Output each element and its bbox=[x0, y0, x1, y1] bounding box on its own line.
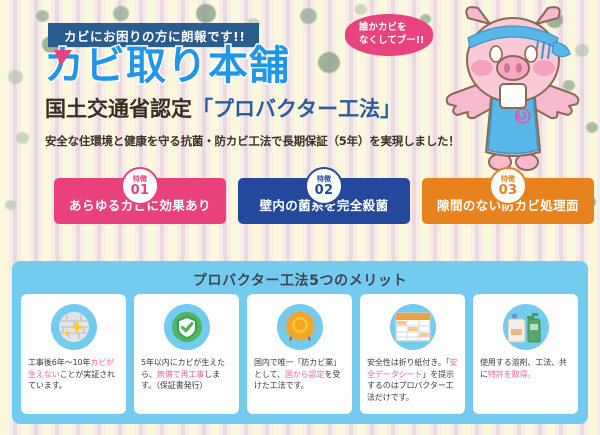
merit-card[interactable]: 安全性は折り紙付き。「安全データシート」を提示するのはプロバクター工法だけです。 bbox=[360, 294, 465, 414]
feature-badge-number: 02 bbox=[315, 184, 334, 197]
feature-badge-number: 03 bbox=[499, 184, 518, 197]
merits-panel: プロバクター工法5つのメリット 工事後6年～10年カビが生えない bbox=[12, 261, 588, 424]
feature-boxes: 特徴 01 あらゆるカビに効果あり 特徴 02 壁内の菌糸を完全殺菌 特徴 03… bbox=[0, 168, 600, 230]
feature-box-02[interactable]: 特徴 02 壁内の菌糸を完全殺菌 bbox=[238, 178, 410, 224]
merit-card[interactable]: 工事後6年～10年カビが生えないことが実証されています。 bbox=[21, 294, 126, 414]
merit-text-highlight: 国から認定 bbox=[285, 370, 325, 379]
feature-badge-word: 特徴 bbox=[133, 176, 147, 183]
brick-wall-sparkle-icon bbox=[51, 304, 97, 350]
merit-card[interactable]: 使用する溶剤、工法、共に特許を取得。 bbox=[473, 294, 578, 414]
speech-bubble: 誰かカビを なくしてブー!! bbox=[345, 14, 433, 56]
merit-card-text: 使用する溶剤、工法、共に特許を取得。 bbox=[480, 357, 571, 380]
feature-badge-word: 特徴 bbox=[317, 176, 331, 183]
feature-badge-02: 特徴 02 bbox=[305, 167, 343, 205]
speech-bubble-tail bbox=[54, 50, 72, 66]
feature-badge-word: 特徴 bbox=[501, 176, 515, 183]
sub-title-certification: 国土交通省認定 bbox=[45, 97, 192, 121]
award-medal-icon bbox=[277, 304, 323, 350]
merit-card-list: 工事後6年～10年カビが生えないことが実証されています。 5年以内にカビが生えた… bbox=[21, 294, 578, 414]
page-title: カビ取り本舗 bbox=[44, 46, 290, 86]
spray-bottle-icon bbox=[503, 304, 549, 350]
merit-text-part: 安全性は折り紙付き。「 bbox=[367, 358, 450, 367]
feature-badge-number: 01 bbox=[131, 184, 150, 197]
data-sheet-icon bbox=[390, 304, 436, 350]
merits-heading: プロバクター工法5つのメリット bbox=[12, 261, 588, 290]
merit-card-text: 安全性は折り紙付き。「安全データシート」を提示するのはプロバクター工法だけです。 bbox=[367, 357, 458, 403]
speech-bubble-line-2: なくしてブー!! bbox=[345, 35, 433, 48]
sub-title-method-name: 「プロバクター工法」 bbox=[192, 97, 401, 121]
feature-box-03[interactable]: 特徴 03 隙間のない防カビ処理面 bbox=[422, 178, 594, 224]
merit-card-text: 工事後6年～10年カビが生えないことが実証されています。 bbox=[28, 357, 119, 392]
merit-card[interactable]: 5年以内にカビが生えたら、無償で再工事します。（保証書発行） bbox=[134, 294, 239, 414]
lead-text: 安全な住環境と健康を守る抗菌・防カビ工法で長期保証（5年）を実現しました！ bbox=[45, 133, 460, 149]
landing-page: カビにお困りの方に朗報です!! カビ取り本舗 国土交通省認定「プロバクター工法」… bbox=[0, 0, 600, 435]
merit-text-highlight: 無償で再工事 bbox=[157, 370, 204, 379]
merit-card[interactable]: 国内で唯一「防カビ業」として、国から認定を受けた工法です。 bbox=[247, 294, 352, 414]
feature-badge-03: 特徴 03 bbox=[489, 167, 527, 205]
merit-card-text: 国内で唯一「防カビ業」として、国から認定を受けた工法です。 bbox=[254, 357, 345, 392]
speech-bubble-line-1: 誰かカビを bbox=[345, 22, 433, 35]
merit-text-highlight: 特許を取得。 bbox=[488, 370, 535, 379]
sub-title: 国土交通省認定「プロバクター工法」 bbox=[45, 99, 401, 120]
feature-badge-01: 特徴 01 bbox=[121, 167, 159, 205]
pig-mascot-icon bbox=[430, 2, 595, 172]
merit-text-part: 工事後6年～10年 bbox=[28, 358, 90, 367]
merit-card-text: 5年以内にカビが生えたら、無償で再工事します。（保証書発行） bbox=[141, 357, 232, 392]
feature-box-01[interactable]: 特徴 01 あらゆるカビに効果あり bbox=[54, 178, 226, 224]
announcement-ribbon-text: カビにお困りの方に朗報です!! bbox=[64, 26, 245, 45]
shield-check-icon bbox=[164, 304, 210, 350]
